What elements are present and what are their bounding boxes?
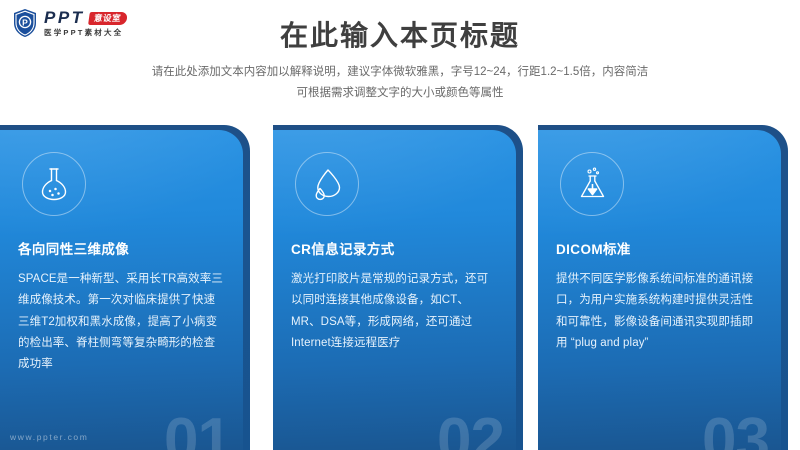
- page-title: 在此输入本页标题: [0, 14, 800, 54]
- page-subtitle: 请在此处添加文本内容加以解释说明，建议字体微软雅黑，字号12~24，行距1.2~…: [80, 62, 720, 105]
- card-deck: 各向同性三维成像 SPACE是一种新型、采用长TR高效率三维成像技术。第一次对临…: [0, 125, 800, 450]
- card-3[interactable]: DICOM标准 提供不同医学影像系统间标准的通讯接口，为用户实施系统构建时提供灵…: [530, 125, 795, 450]
- card-3-number: 03: [702, 410, 769, 450]
- card-3-title: DICOM标准: [556, 238, 763, 258]
- flask-round-icon: [22, 152, 86, 216]
- subtitle-line-2: 可根据需求调整文字的大小或颜色等属性: [80, 83, 720, 104]
- card-3-body: 提供不同医学影像系统间标准的通讯接口，为用户实施系统构建时提供灵活性和可靠性，影…: [556, 269, 761, 354]
- site-watermark: www.ppter.com: [10, 432, 88, 442]
- subtitle-line-1: 请在此处添加文本内容加以解释说明，建议字体微软雅黑，字号12~24，行距1.2~…: [80, 62, 720, 83]
- slide-root: P PPT 意设室 医学PPT素材大全 在此输入本页标题 请在此处添加文本内容加…: [0, 0, 800, 450]
- blood-drop-icon: [295, 152, 359, 216]
- card-2-face: CR信息记录方式 激光打印胶片是常规的记录方式，还可以同时连接其他成像设备，如C…: [273, 130, 516, 450]
- card-3-face: DICOM标准 提供不同医学影像系统间标准的通讯接口，为用户实施系统构建时提供灵…: [538, 130, 781, 450]
- card-1[interactable]: 各向同性三维成像 SPACE是一种新型、采用长TR高效率三维成像技术。第一次对临…: [0, 125, 265, 450]
- card-2-body: 激光打印胶片是常规的记录方式，还可以同时连接其他成像设备，如CT、MR、DSA等…: [291, 269, 496, 354]
- flask-arrow-icon: [560, 152, 624, 216]
- card-1-body: SPACE是一种新型、采用长TR高效率三维成像技术。第一次对临床提供了快速三维T…: [18, 269, 223, 375]
- card-1-face: 各向同性三维成像 SPACE是一种新型、采用长TR高效率三维成像技术。第一次对临…: [0, 130, 243, 450]
- card-2[interactable]: CR信息记录方式 激光打印胶片是常规的记录方式，还可以同时连接其他成像设备，如C…: [265, 125, 530, 450]
- card-1-title: 各向同性三维成像: [18, 238, 225, 258]
- card-2-number: 02: [437, 410, 504, 450]
- card-2-title: CR信息记录方式: [291, 238, 498, 258]
- card-1-number: 01: [164, 410, 231, 450]
